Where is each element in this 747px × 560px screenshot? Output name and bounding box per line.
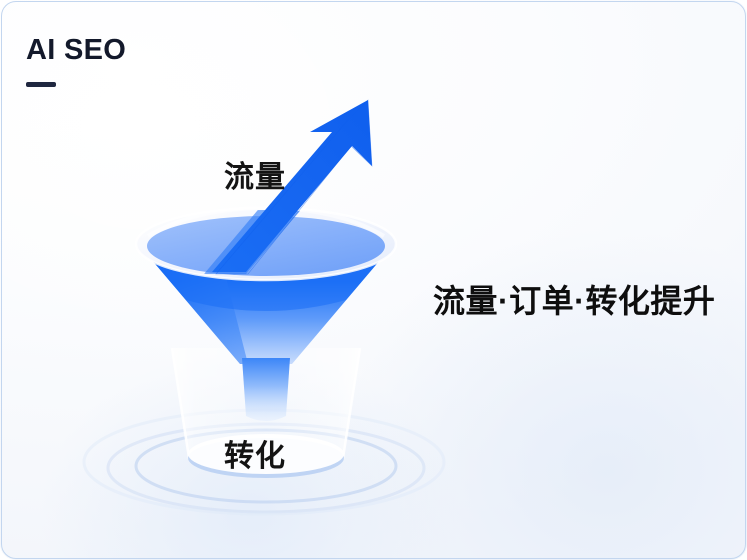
funnel-label-traffic: 流量 xyxy=(224,152,286,196)
title-underline-rule xyxy=(26,82,56,87)
poster-canvas: AI SEO 流量·订单·转化提升 xyxy=(0,0,747,560)
headline-text: 流量·订单·转化提升 xyxy=(433,276,715,322)
funnel-stem xyxy=(242,358,290,421)
title-block: AI SEO xyxy=(26,36,126,87)
page-title: AI SEO xyxy=(26,36,126,65)
funnel-label-conversion: 转化 xyxy=(224,431,286,475)
